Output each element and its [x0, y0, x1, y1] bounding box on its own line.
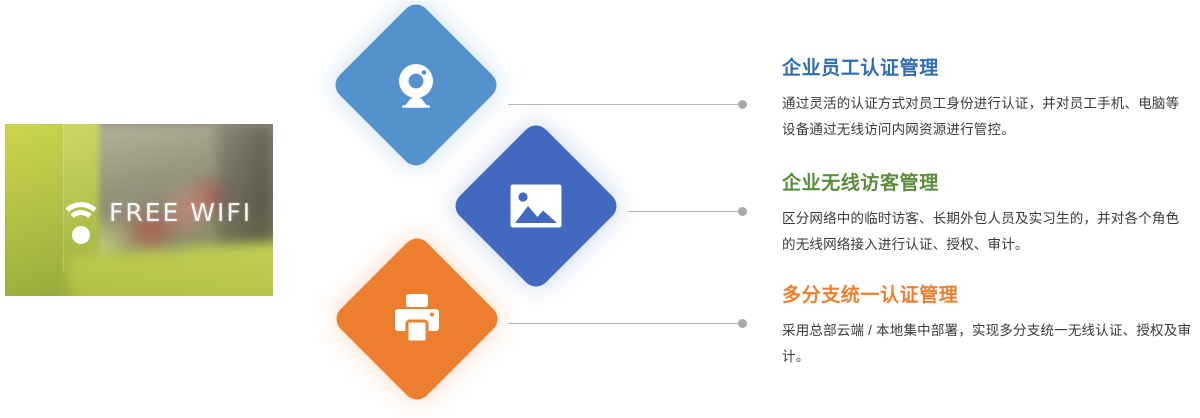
webcam-icon — [388, 57, 444, 113]
feature-item-3: 多分支统一认证管理 采用总部云端 / 本地集中部署，实现多分支统一无线认证、授权… — [782, 285, 1192, 370]
node-picture[interactable] — [450, 120, 623, 293]
connector-dot-1 — [738, 100, 747, 109]
picture-icon — [509, 183, 563, 229]
connector-line-3 — [508, 323, 742, 324]
feature-body-3: 采用总部云端 / 本地集中部署，实现多分支统一无线认证、授权及审计。 — [782, 318, 1192, 371]
connector-dot-2 — [738, 207, 747, 216]
node-printer[interactable] — [331, 233, 504, 406]
wifi-icon — [61, 202, 101, 236]
free-wifi-photo: FREE WIFI — [5, 124, 273, 296]
feature-title-2: 企业无线访客管理 — [782, 173, 1192, 196]
printer-icon — [389, 293, 445, 345]
feature-item-1: 企业员工认证管理 通过灵活的认证方式对员工身份进行认证，并对员工手机、电脑等设备… — [782, 58, 1192, 143]
feature-list: 企业员工认证管理 通过灵活的认证方式对员工身份进行认证，并对员工手机、电脑等设备… — [782, 0, 1192, 418]
connector-line-2 — [628, 211, 742, 212]
free-wifi-sign-text: FREE WIFI — [109, 198, 252, 227]
feature-body-2: 区分网络中的临时访客、长期外包人员及实习生的，并对各个角色的无线网络接入进行认证… — [782, 206, 1192, 259]
connector-dot-3 — [738, 319, 747, 328]
feature-panel: FREE WIFI — [0, 0, 1200, 418]
feature-title-3: 多分支统一认证管理 — [782, 285, 1192, 308]
node-webcam[interactable] — [330, 0, 503, 171]
feature-body-1: 通过灵活的认证方式对员工身份进行认证，并对员工手机、电脑等设备通过无线访问内网资… — [782, 91, 1192, 144]
feature-title-1: 企业员工认证管理 — [782, 58, 1192, 81]
connector-line-1 — [508, 104, 742, 105]
feature-item-2: 企业无线访客管理 区分网络中的临时访客、长期外包人员及实习生的，并对各个角色的无… — [782, 173, 1192, 258]
